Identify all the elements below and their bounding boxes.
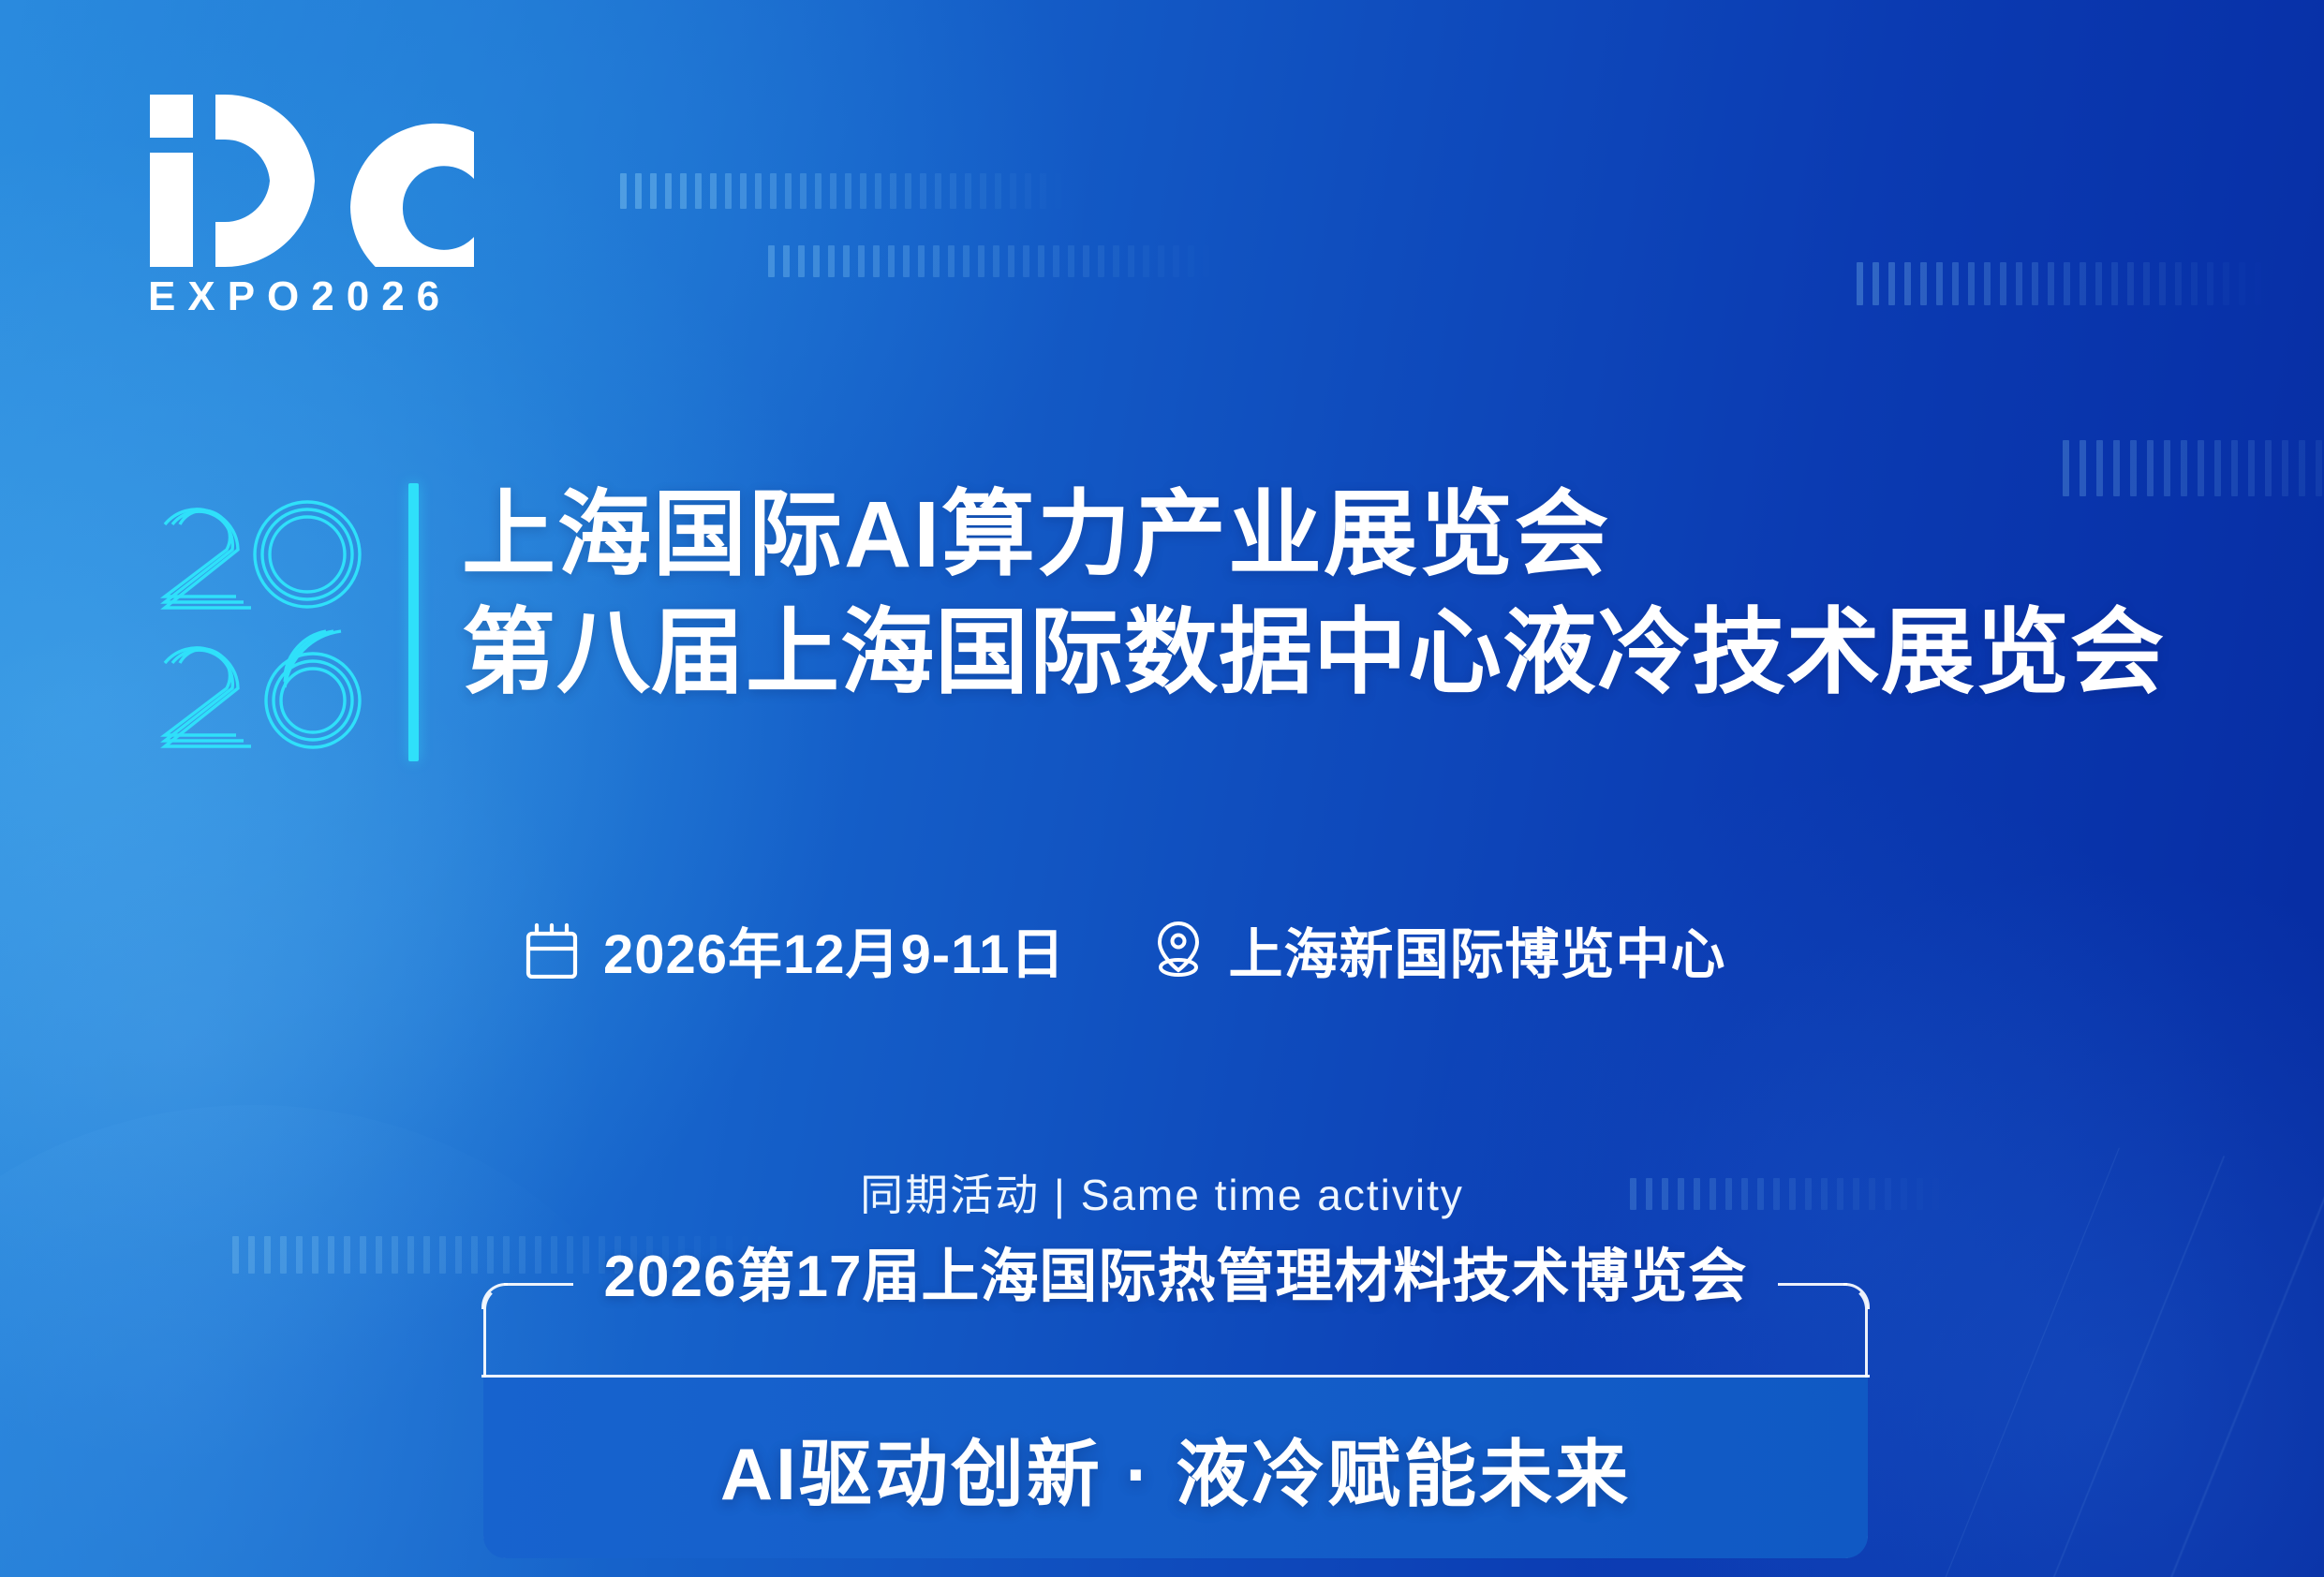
tick-bars-decoration-a <box>620 173 1061 209</box>
tick-bars-decoration-b <box>768 245 1209 277</box>
event-date-text: 2026年12月9-11日 <box>603 910 1065 989</box>
brand-logo: EXPO2026 <box>148 89 478 317</box>
panel-slogan-band: AI驱动创新 · 液冷赋能未来 <box>483 1378 1868 1558</box>
headline-divider-bar <box>408 483 419 761</box>
headline-titles: 上海国际AI算力产业展览会 第八届上海国际数据中心液冷技术展览会 <box>462 479 2165 710</box>
exhibition-title-secondary: 第八届上海国际数据中心液冷技术展览会 <box>462 596 2165 710</box>
poster-canvas: EXPO2026 <box>0 0 2324 1577</box>
idc-wordmark-logo-icon <box>148 89 478 267</box>
event-slogan: AI驱动创新 · 液冷赋能未来 <box>720 1416 1631 1521</box>
tick-bars-decoration-c <box>1857 262 2261 305</box>
event-venue-text: 上海新国际博览中心 <box>1228 910 1725 989</box>
event-venue: 上海新国际博览中心 <box>1153 910 1725 989</box>
headline-row: 上海国际AI算力产业展览会 第八届上海国际数据中心液冷技术展览会 <box>157 479 2165 761</box>
logo-wordmark-text: EXPO2026 <box>148 276 478 317</box>
exhibition-title-primary: 上海国际AI算力产业展览会 <box>462 479 2165 590</box>
co-located-event-title: 2026第17届上海国际热管理材料技术博览会 <box>483 1229 1868 1313</box>
location-pin-icon <box>1153 921 1204 979</box>
calendar-icon <box>525 921 579 979</box>
same-time-activity-label: 同期活动 | Same time activity <box>0 1161 2324 1223</box>
event-date: 2026年12月9-11日 <box>525 910 1065 989</box>
event-meta: 2026年12月9-11日 上海新国际博览中心 <box>525 910 1725 989</box>
co-located-event-panel: 2026第17届上海国际热管理材料技术博览会 AI驱动创新 · 液冷赋能未来 <box>483 1285 1868 1558</box>
outline-numerals-2026-icon <box>157 479 371 760</box>
light-streak-1 <box>2154 1163 2324 1577</box>
